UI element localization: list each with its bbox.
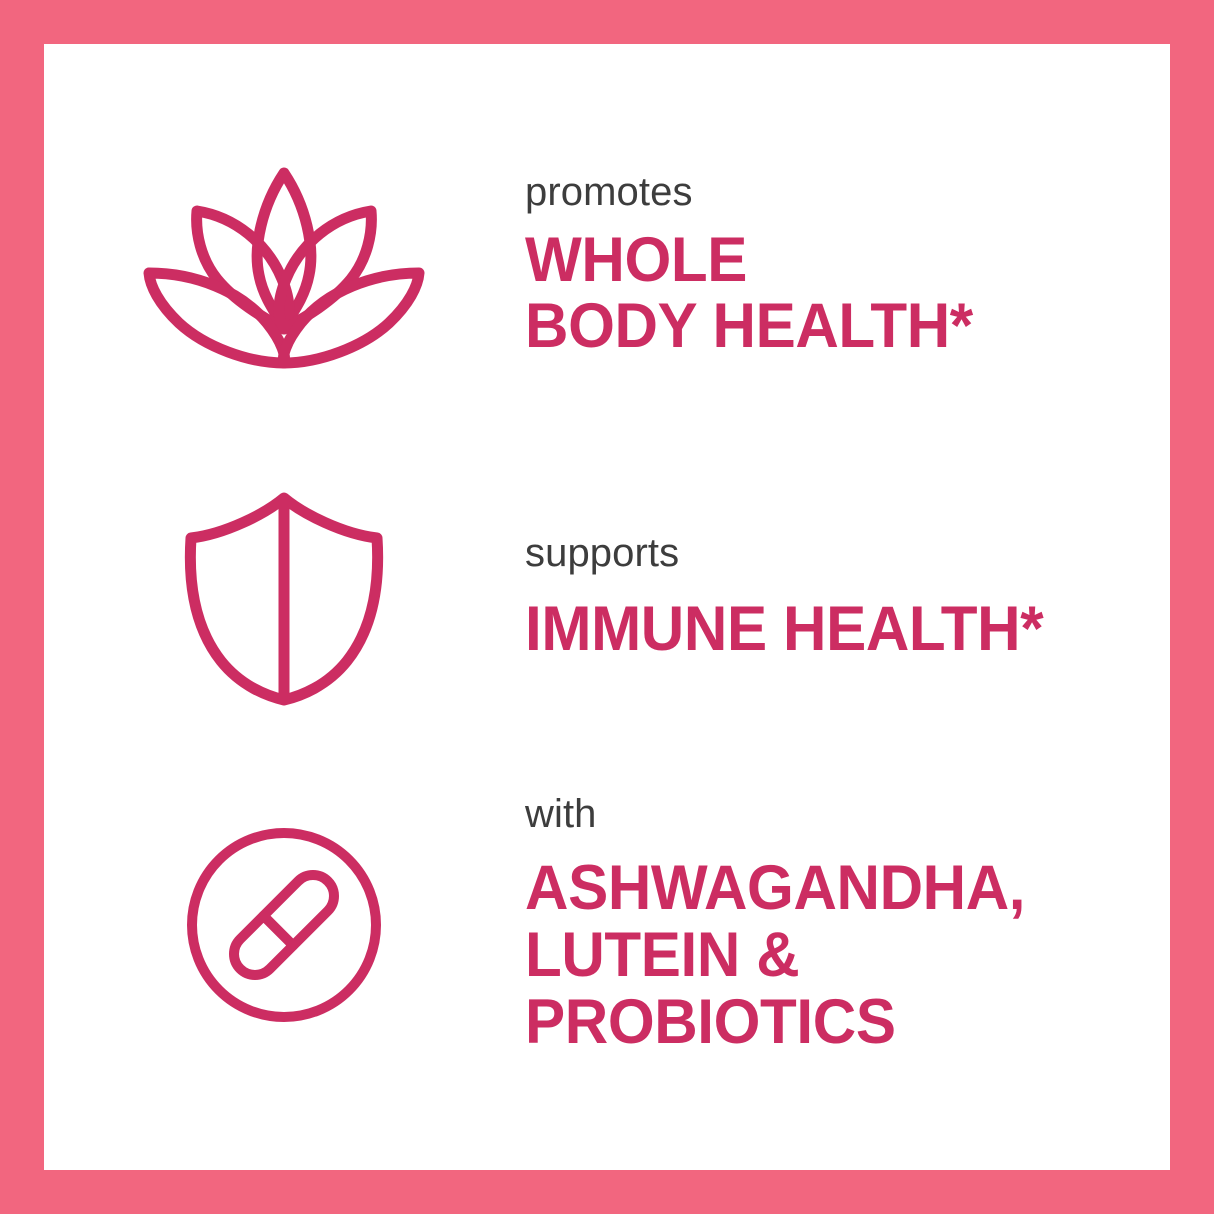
white-content-panel: promotes WHOLE BODY HEALTH* supports IMM… [44,44,1170,1170]
capsule-in-circle-icon-cell [44,760,524,1090]
benefit-intro-label: promotes [525,172,1170,213]
benefit-intro-label: supports [525,533,1170,574]
lotus-flower-icon-cell [44,116,524,416]
benefit-headline: IMMUNE HEALTH* [525,596,1141,663]
benefit-text-cell: with ASHWAGANDHA, LUTEIN & PROBIOTICS [524,760,1170,1090]
benefit-row: supports IMMUNE HEALTH* [44,448,1170,748]
shield-icon-cell [44,448,524,748]
benefit-text-cell: supports IMMUNE HEALTH* [524,448,1170,748]
benefit-row: promotes WHOLE BODY HEALTH* [44,116,1170,416]
benefit-text-cell: promotes WHOLE BODY HEALTH* [524,116,1170,416]
capsule-in-circle-icon [184,825,384,1025]
pink-border-frame: promotes WHOLE BODY HEALTH* supports IMM… [0,0,1214,1214]
capsule-shape [225,866,342,983]
lotus-flower-icon [139,151,429,381]
benefit-headline: ASHWAGANDHA, LUTEIN & PROBIOTICS [525,855,1141,1055]
shield-icon [179,488,389,708]
benefit-intro-label: with [525,794,1170,835]
benefit-headline: WHOLE BODY HEALTH* [525,227,1141,361]
benefit-row: with ASHWAGANDHA, LUTEIN & PROBIOTICS [44,760,1170,1090]
